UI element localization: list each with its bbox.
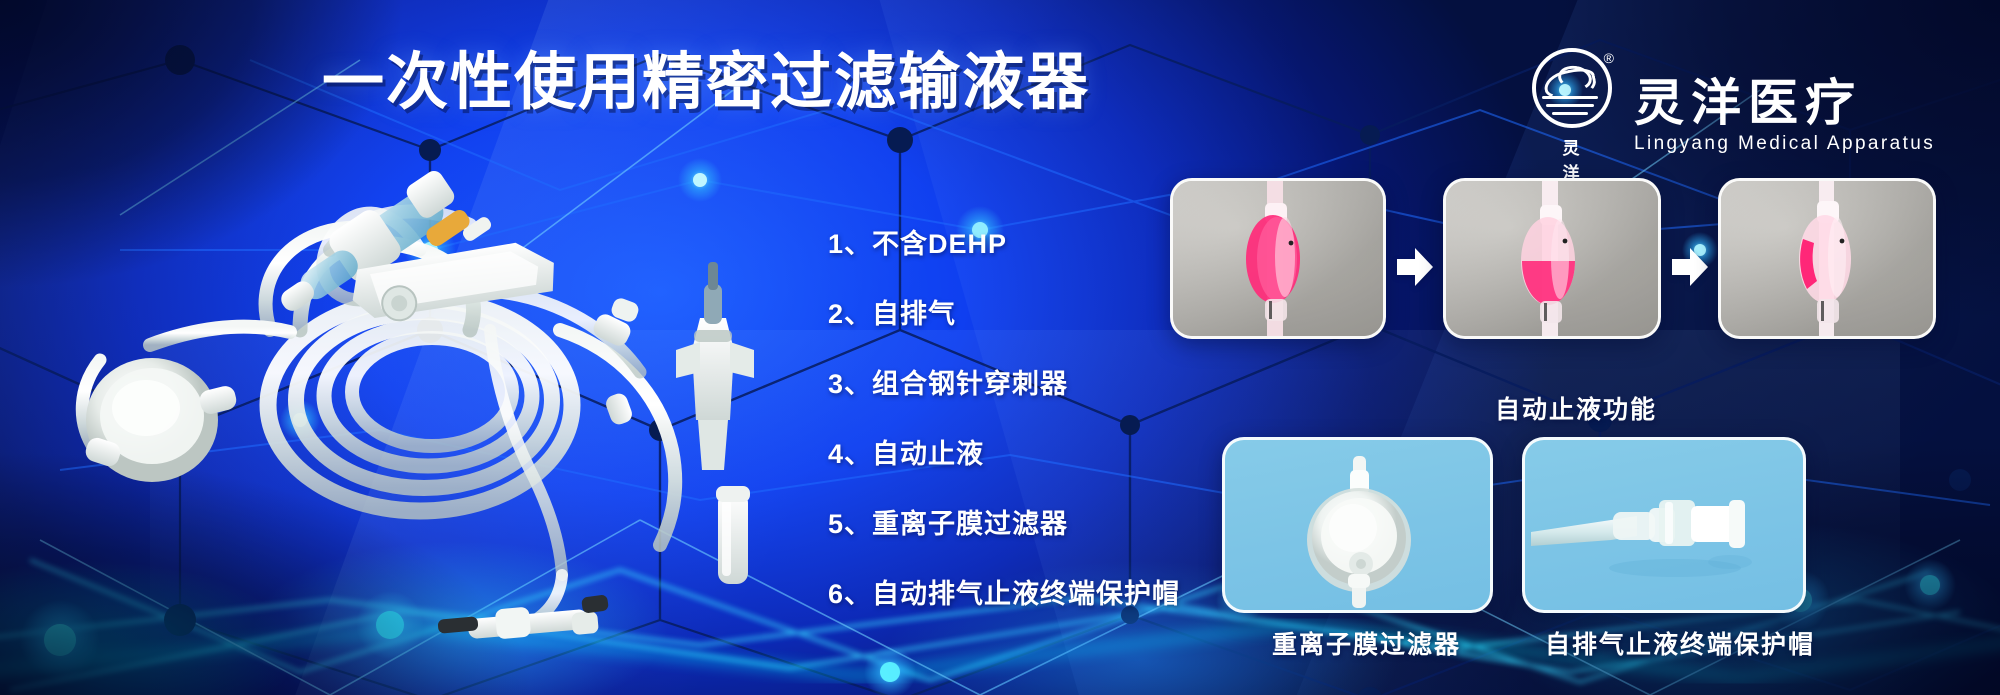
- feature-item: 4、自动止液: [828, 432, 1180, 471]
- logo-circle-icon: [1532, 48, 1612, 128]
- feature-item: 3、组合钢针穿刺器: [828, 362, 1180, 401]
- logo-emblem: ® 灵 洋: [1528, 48, 1616, 184]
- brand-name-en: Lingyang Medical Apparatus: [1634, 133, 1935, 155]
- detail-caption-cap: 自排气止液终端保护帽: [1545, 625, 1815, 661]
- registered-trademark-icon: ®: [1604, 50, 1614, 66]
- feature-item: 2、自排气: [828, 292, 1180, 331]
- detail-panel-cap: [1522, 437, 1806, 613]
- brand-logo: ® 灵 洋 灵洋医疗 Lingyang Medical Apparatus: [1528, 48, 1935, 184]
- detail-caption-filter: 重离子膜过滤器: [1272, 625, 1461, 661]
- feature-item: 1、不含DEHP: [828, 222, 1180, 261]
- sequence-caption: 自动止液功能: [1495, 390, 1657, 426]
- detail-panel-filter: [1222, 437, 1493, 613]
- sequence-frame: [1170, 178, 1386, 339]
- logo-emblem-label: 灵 洋: [1528, 134, 1616, 184]
- sequence-frame: [1718, 178, 1936, 339]
- feature-list: 1、不含DEHP 2、自排气 3、组合钢针穿刺器 4、自动止液 5、重离子膜过滤…: [828, 222, 1180, 611]
- product-banner: 一次性使用精密过滤输液器 ® 灵 洋 灵洋医疗 Lingyang Medical…: [0, 0, 2000, 695]
- sequence-arrow-icon: [1670, 246, 1710, 293]
- brand-name-cn: 灵洋医疗: [1634, 77, 1935, 130]
- feature-item: 6、自动排气止液终端保护帽: [828, 572, 1180, 611]
- banner-title: 一次性使用精密过滤输液器: [322, 52, 1090, 114]
- sequence-arrow-icon: [1395, 246, 1435, 293]
- feature-item: 5、重离子膜过滤器: [828, 502, 1180, 541]
- sequence-frame: [1443, 178, 1661, 339]
